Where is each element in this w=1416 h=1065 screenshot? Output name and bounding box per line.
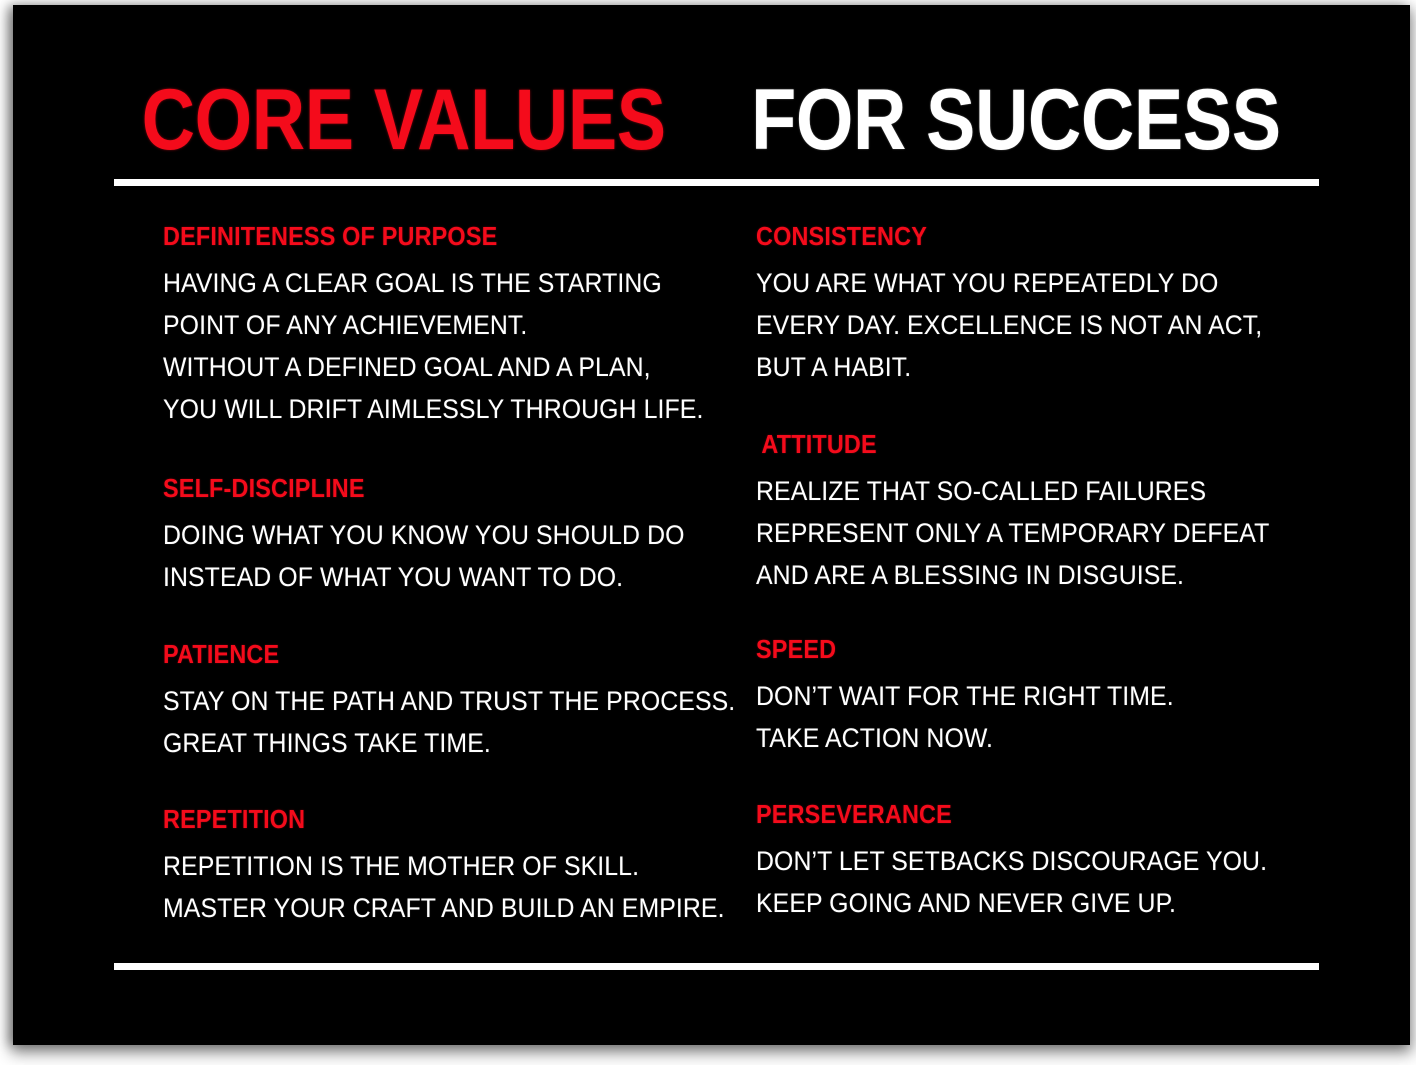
value-body-line: WITHOUT A DEFINED GOAL AND A PLAN, [163, 346, 715, 388]
divider-top [114, 179, 1319, 186]
value-heading: DEFINITENESS OF PURPOSE [163, 221, 703, 252]
value-heading: PERSEVERANCE [756, 799, 1296, 830]
value-heading: SPEED [756, 634, 1296, 665]
value-entry: CONSISTENCYYOU ARE WHAT YOU REPEATEDLY D… [756, 221, 1356, 388]
value-body-line: DON’T LET SETBACKS DISCOURAGE YOU. [756, 840, 1308, 882]
value-body-line: YOU ARE WHAT YOU REPEATEDLY DO [756, 262, 1308, 304]
value-body-line: REPETITION IS THE MOTHER OF SKILL. [163, 845, 715, 887]
value-body: REALIZE THAT SO-CALLED FAILURESREPRESENT… [756, 470, 1356, 596]
poster-panel: CORE VALUES FOR SUCCESS DEFINITENESS OF … [13, 5, 1410, 1045]
value-body-line: HAVING A CLEAR GOAL IS THE STARTING [163, 262, 715, 304]
value-body-line: GREAT THINGS TAKE TIME. [163, 722, 715, 764]
poster-stage: CORE VALUES FOR SUCCESS DEFINITENESS OF … [0, 0, 1416, 1065]
value-body-line: INSTEAD OF WHAT YOU WANT TO DO. [163, 556, 715, 598]
page-title-rest: FOR SUCCESS [751, 77, 1281, 163]
value-body: DON’T LET SETBACKS DISCOURAGE YOU.KEEP G… [756, 840, 1356, 924]
value-body: HAVING A CLEAR GOAL IS THE STARTINGPOINT… [163, 262, 763, 430]
value-body-line: DOING WHAT YOU KNOW YOU SHOULD DO [163, 514, 715, 556]
value-heading: REPETITION [163, 804, 703, 835]
value-entry: REPETITIONREPETITION IS THE MOTHER OF SK… [163, 804, 763, 929]
value-body-line: EVERY DAY. EXCELLENCE IS NOT AN ACT, [756, 304, 1308, 346]
value-body: DOING WHAT YOU KNOW YOU SHOULD DOINSTEAD… [163, 514, 763, 598]
value-body-line: KEEP GOING AND NEVER GIVE UP. [756, 882, 1308, 924]
value-heading: SELF-DISCIPLINE [163, 473, 703, 504]
value-entry: SPEEDDON’T WAIT FOR THE RIGHT TIME.TAKE … [756, 634, 1356, 759]
value-body: YOU ARE WHAT YOU REPEATEDLY DOEVERY DAY.… [756, 262, 1356, 388]
value-body-line: MASTER YOUR CRAFT AND BUILD AN EMPIRE. [163, 887, 715, 929]
value-body: STAY ON THE PATH AND TRUST THE PROCESS.G… [163, 680, 763, 764]
value-body-line: DON’T WAIT FOR THE RIGHT TIME. [756, 675, 1308, 717]
value-entry: DEFINITENESS OF PURPOSEHAVING A CLEAR GO… [163, 221, 763, 430]
values-columns: DEFINITENESS OF PURPOSEHAVING A CLEAR GO… [13, 203, 1410, 948]
value-body-line: STAY ON THE PATH AND TRUST THE PROCESS. [163, 680, 715, 722]
value-body: DON’T WAIT FOR THE RIGHT TIME.TAKE ACTIO… [756, 675, 1356, 759]
page-title: CORE VALUES FOR SUCCESS [13, 77, 1410, 163]
value-body-line: POINT OF ANY ACHIEVEMENT. [163, 304, 715, 346]
value-body-line: REALIZE THAT SO-CALLED FAILURES [756, 470, 1308, 512]
value-entry: SELF-DISCIPLINEDOING WHAT YOU KNOW YOU S… [163, 473, 763, 598]
value-entry: PERSEVERANCEDON’T LET SETBACKS DISCOURAG… [756, 799, 1356, 924]
value-body-line: BUT A HABIT. [756, 346, 1308, 388]
page-title-highlight: CORE VALUES [142, 77, 666, 163]
value-entry: ATTITUDEREALIZE THAT SO-CALLED FAILURESR… [756, 429, 1356, 596]
value-body-line: YOU WILL DRIFT AIMLESSLY THROUGH LIFE. [163, 388, 715, 430]
value-heading: PATIENCE [163, 639, 703, 670]
value-body-line: TAKE ACTION NOW. [756, 717, 1308, 759]
value-heading: CONSISTENCY [756, 221, 1296, 252]
value-heading: ATTITUDE [756, 429, 1296, 460]
value-entry: PATIENCESTAY ON THE PATH AND TRUST THE P… [163, 639, 763, 764]
value-body: REPETITION IS THE MOTHER OF SKILL.MASTER… [163, 845, 763, 929]
value-body-line: AND ARE A BLESSING IN DISGUISE. [756, 554, 1308, 596]
value-body-line: REPRESENT ONLY A TEMPORARY DEFEAT [756, 512, 1308, 554]
divider-bottom [114, 963, 1319, 970]
